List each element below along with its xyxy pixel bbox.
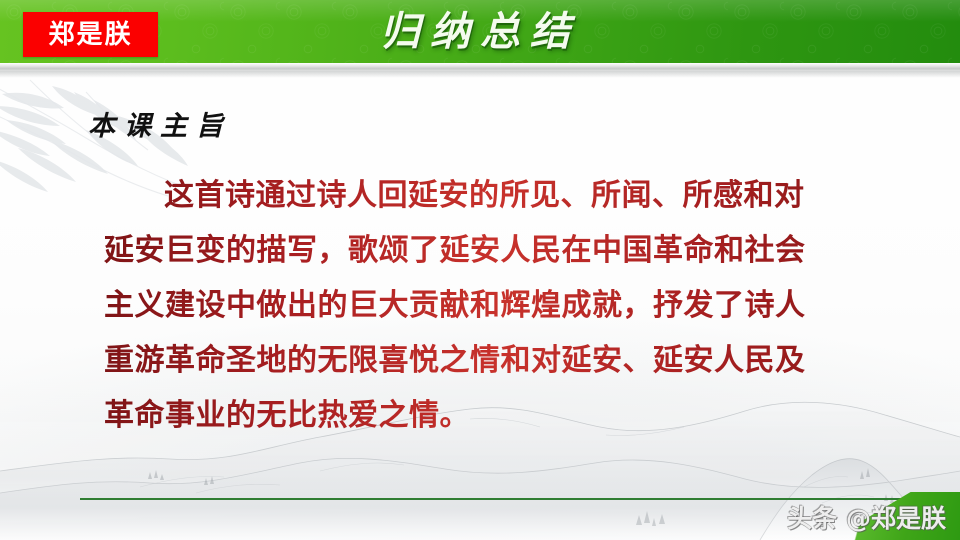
paragraph-line: 延安巨变的描写，歌颂了延安人民在中国革命和社会 (104, 223, 864, 278)
paragraph-line: 革命事业的无比热爱之情。 (104, 388, 864, 443)
paragraph-line: 重游革命圣地的无限喜悦之情和对延安、延安人民及 (104, 333, 864, 388)
header-silver-strip (0, 63, 960, 71)
logo-badge[interactable]: 郑是朕 (23, 12, 158, 57)
logo-badge-label: 郑是朕 (48, 22, 132, 48)
section-heading: 本课主旨 (88, 104, 408, 148)
slide-canvas: 头条 @郑是朕 归纳总结 郑是朕 (0, 0, 960, 540)
summary-paragraph: 这首诗通过诗人回延安的所见、所闻、所感和对 延安巨变的描写，歌颂了延安人民在中国… (104, 168, 864, 443)
green-divider-rule (80, 498, 960, 500)
paragraph-line: 主义建设中做出的巨大贡献和辉煌成就，抒发了诗人 (104, 278, 864, 333)
section-heading-text: 本课主旨 (88, 113, 232, 140)
header-strip-shadow (0, 71, 960, 78)
paragraph-line: 这首诗通过诗人回延安的所见、所闻、所感和对 (104, 168, 864, 223)
watermark-text: 头条 @郑是朕 (787, 504, 946, 534)
